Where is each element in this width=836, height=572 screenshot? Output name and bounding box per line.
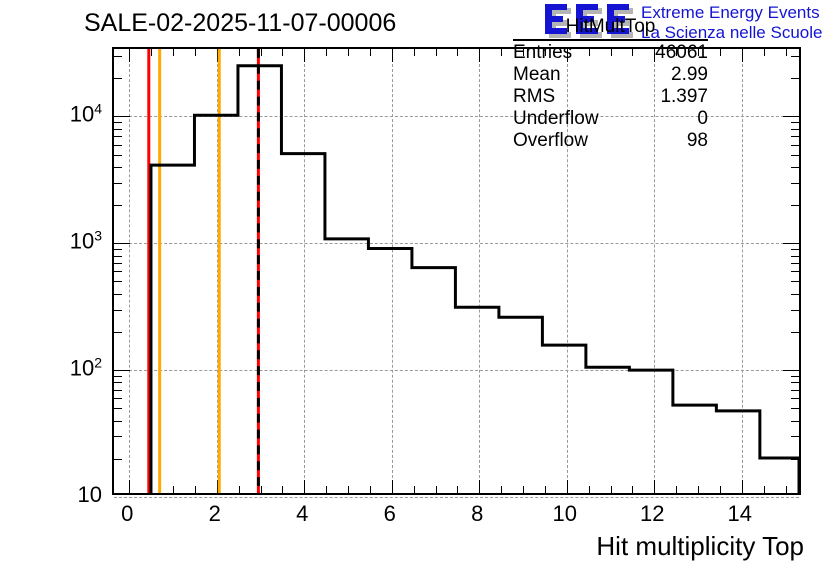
eee-letter-bar (545, 4, 567, 10)
x-tick-label: 10 (553, 501, 577, 527)
x-tick-label: 8 (471, 501, 483, 527)
x-tick-label: 2 (209, 501, 221, 527)
stats-row-key: RMS (513, 86, 555, 108)
eee-letter-bar (607, 4, 629, 10)
x-axis-title: Hit multiplicity Top (596, 531, 804, 562)
y-tick-label: 103 (30, 228, 102, 255)
stats-divider (513, 39, 708, 41)
eee-letter-bar (576, 4, 598, 10)
x-tick-label: 0 (121, 501, 133, 527)
stats-row-key: Entries (513, 42, 572, 64)
stats-row: Underflow0 (513, 108, 708, 130)
stats-rows: Entries46061Mean2.99RMS1.397Underflow0Ov… (513, 42, 708, 152)
x-tick-label: 6 (384, 501, 396, 527)
stats-row-value: 1.397 (660, 86, 708, 108)
plot-canvas: SALE-02-2025-11-07-00006 Extreme Energy … (0, 0, 836, 572)
x-tick-label: 4 (296, 501, 308, 527)
stats-row: Mean2.99 (513, 64, 708, 86)
stats-row-value: 46061 (655, 42, 708, 64)
stats-row-value: 98 (687, 130, 708, 152)
stats-row-key: Overflow (513, 130, 588, 152)
x-tick-label: 14 (728, 501, 752, 527)
page-title: SALE-02-2025-11-07-00006 (84, 9, 396, 38)
y-tick-label: 102 (30, 354, 102, 381)
stats-row-key: Mean (513, 64, 561, 86)
stats-box: HitMultTop Entries46061Mean2.99RMS1.397U… (513, 16, 708, 152)
stats-row-key: Underflow (513, 108, 599, 130)
y-tick-label: 10 (30, 482, 102, 508)
gridline-horizontal (114, 497, 799, 498)
stats-row: Overflow98 (513, 130, 708, 152)
stats-row-value: 0 (697, 108, 708, 130)
stats-row: Entries46061 (513, 42, 708, 64)
stats-row-value: 2.99 (671, 64, 708, 86)
x-tick-label: 12 (640, 501, 664, 527)
stats-row: RMS1.397 (513, 86, 708, 108)
stats-title: HitMultTop (513, 16, 708, 39)
y-tick-label: 104 (30, 101, 102, 128)
